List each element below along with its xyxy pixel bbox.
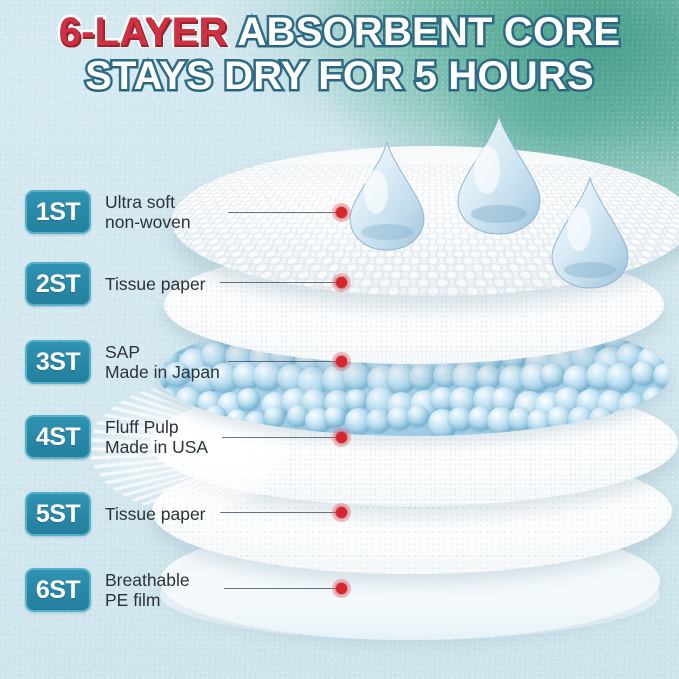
- callout-row-4[interactable]: 4ST Fluff Pulp Made in USA: [25, 415, 208, 459]
- callout-leader-6: [224, 588, 340, 589]
- layer-badge-3-label: 3ST: [36, 348, 80, 377]
- layer-badge-5: 5ST: [25, 492, 91, 536]
- callout-dot-2: [332, 273, 351, 292]
- callout-row-6[interactable]: 6ST Breathable PE film: [25, 568, 190, 612]
- callout-row-3[interactable]: 3ST SAP Made in Japan: [25, 340, 220, 384]
- callout-row-5[interactable]: 5ST Tissue paper: [25, 492, 206, 536]
- layer-label-5: Tissue paper: [105, 504, 206, 524]
- layer-badge-3: 3ST: [25, 340, 91, 384]
- callout-dot-4: [332, 428, 351, 447]
- layer-badge-1-label: 1ST: [36, 198, 80, 227]
- callout-dot-6: [332, 579, 351, 598]
- layer-badge-2-label: 2ST: [36, 270, 80, 299]
- layer-badge-6: 6ST: [25, 568, 91, 612]
- layer-label-6: Breathable PE film: [105, 570, 190, 610]
- callout-leader-4: [222, 437, 340, 438]
- callout-row-2[interactable]: 2ST Tissue paper: [25, 262, 206, 306]
- callout-leader-5: [220, 512, 340, 513]
- layer-badge-6-label: 6ST: [36, 576, 80, 605]
- layer-label-2: Tissue paper: [105, 274, 206, 294]
- layer-badge-4: 4ST: [25, 415, 91, 459]
- callout-leader-1: [228, 212, 340, 213]
- callout-dot-1: [332, 203, 351, 222]
- callout-dot-3: [332, 352, 351, 371]
- layer-badge-2: 2ST: [25, 262, 91, 306]
- infographic-canvas: 6-LAYER ABSORBENT CORE STAYS DRY FOR 5 H…: [0, 0, 679, 679]
- layer-badge-5-label: 5ST: [36, 500, 80, 529]
- callout-list: 1ST Ultra soft non-woven 2ST Tissue pape…: [0, 0, 679, 679]
- callout-leader-2: [220, 282, 340, 283]
- layer-label-4: Fluff Pulp Made in USA: [105, 417, 208, 457]
- layer-label-3: SAP Made in Japan: [105, 342, 220, 382]
- callout-dot-5: [332, 503, 351, 522]
- layer-badge-4-label: 4ST: [36, 423, 80, 452]
- callout-row-1[interactable]: 1ST Ultra soft non-woven: [25, 190, 191, 234]
- callout-leader-3: [228, 361, 340, 362]
- layer-badge-1: 1ST: [25, 190, 91, 234]
- layer-label-1: Ultra soft non-woven: [105, 192, 191, 232]
